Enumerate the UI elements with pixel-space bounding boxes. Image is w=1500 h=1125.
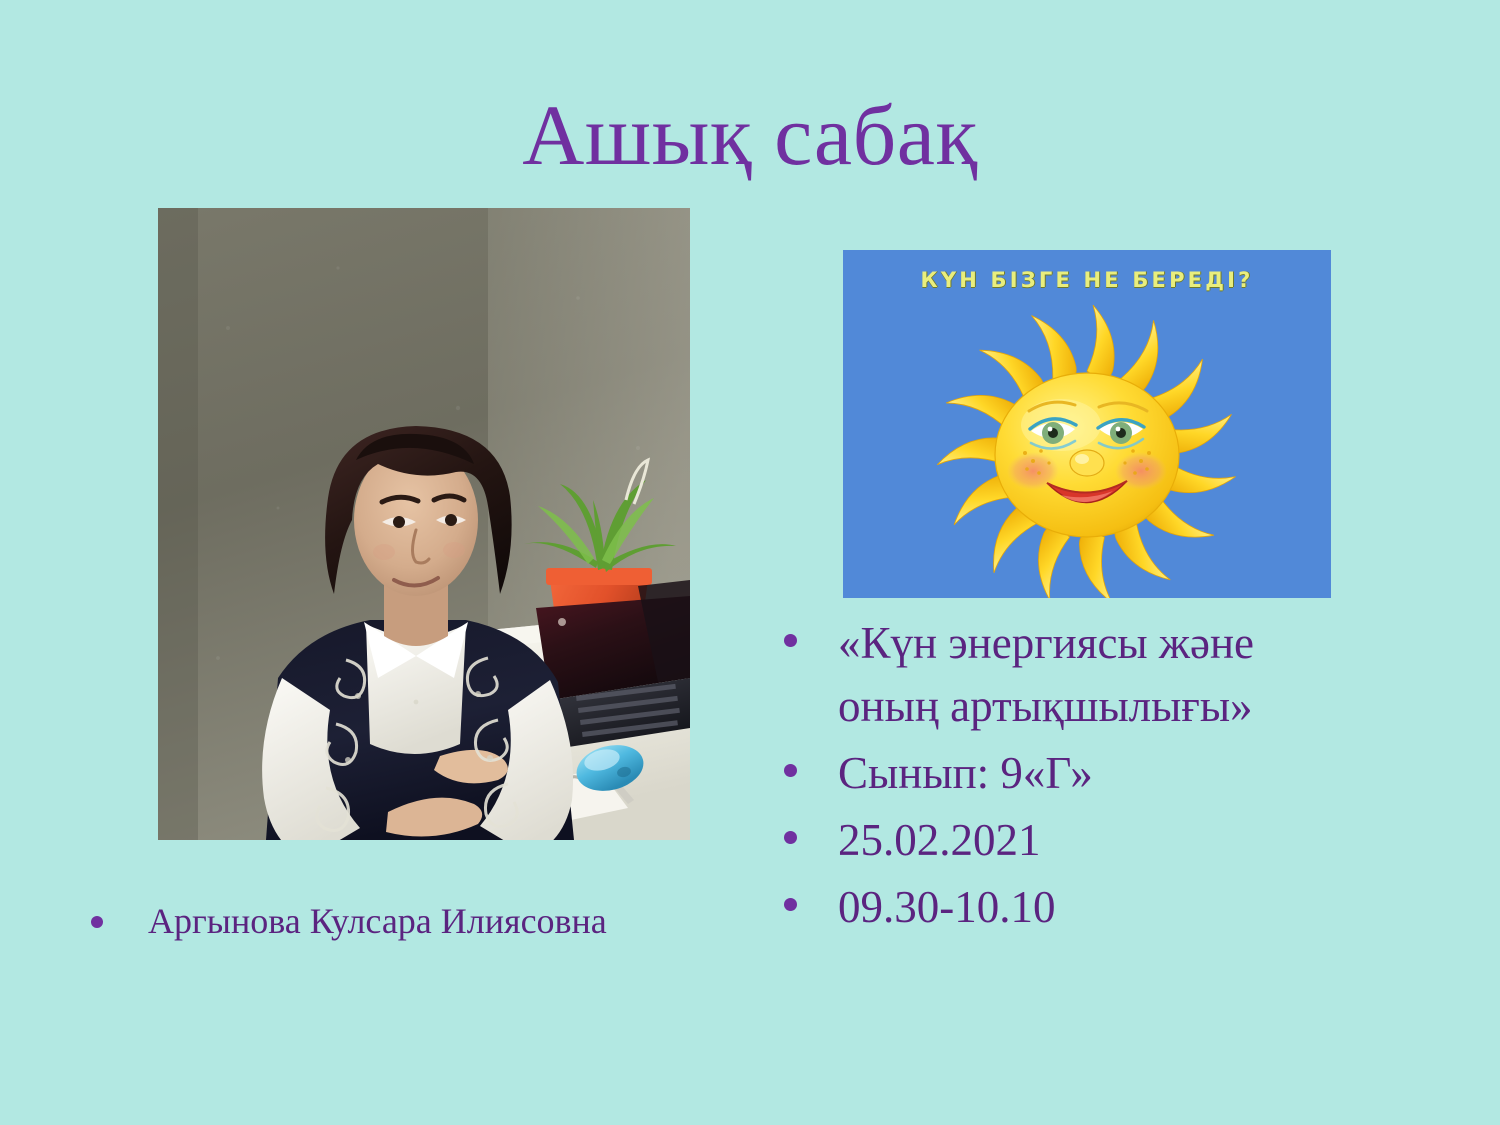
lesson-details-list: «Күн энергиясы және оның артықшылығы» Сы… — [770, 612, 1370, 943]
bullet-dot-icon — [770, 809, 838, 844]
lesson-date-text: 25.02.2021 — [838, 809, 1316, 872]
list-item: 25.02.2021 — [770, 809, 1370, 872]
bullet-dot-icon — [770, 742, 838, 777]
sun-picture-image — [843, 250, 1331, 598]
bullet-dot-icon — [80, 898, 148, 928]
teacher-name-text: Аргынова Кулсара Илиясовна — [148, 898, 740, 945]
bullet-dot-icon — [770, 612, 838, 647]
list-item: 09.30-10.10 — [770, 876, 1370, 939]
list-item: Сынып: 9«Г» — [770, 742, 1370, 805]
lesson-time-text: 09.30-10.10 — [838, 876, 1316, 939]
sun-picture-caption: КҮН БІЗГЕ НЕ БЕРЕДІ? — [843, 268, 1331, 292]
page-title: Ашық сабақ — [0, 92, 1500, 180]
list-item: «Күн энергиясы және оның артықшылығы» — [770, 612, 1370, 738]
sun-picture: КҮН БІЗГЕ НЕ БЕРЕДІ? — [843, 250, 1331, 598]
bullet-dot-icon — [770, 876, 838, 911]
teacher-photo — [158, 208, 690, 840]
lesson-class-text: Сынып: 9«Г» — [838, 742, 1316, 805]
presentation-slide: Ашық сабақ — [0, 0, 1500, 1125]
lesson-topic-text: «Күн энергиясы және оның артықшылығы» — [838, 612, 1316, 738]
teacher-photo-image — [158, 208, 690, 840]
list-item: Аргынова Кулсара Илиясовна — [80, 898, 740, 945]
teacher-name-list: Аргынова Кулсара Илиясовна — [80, 898, 740, 945]
